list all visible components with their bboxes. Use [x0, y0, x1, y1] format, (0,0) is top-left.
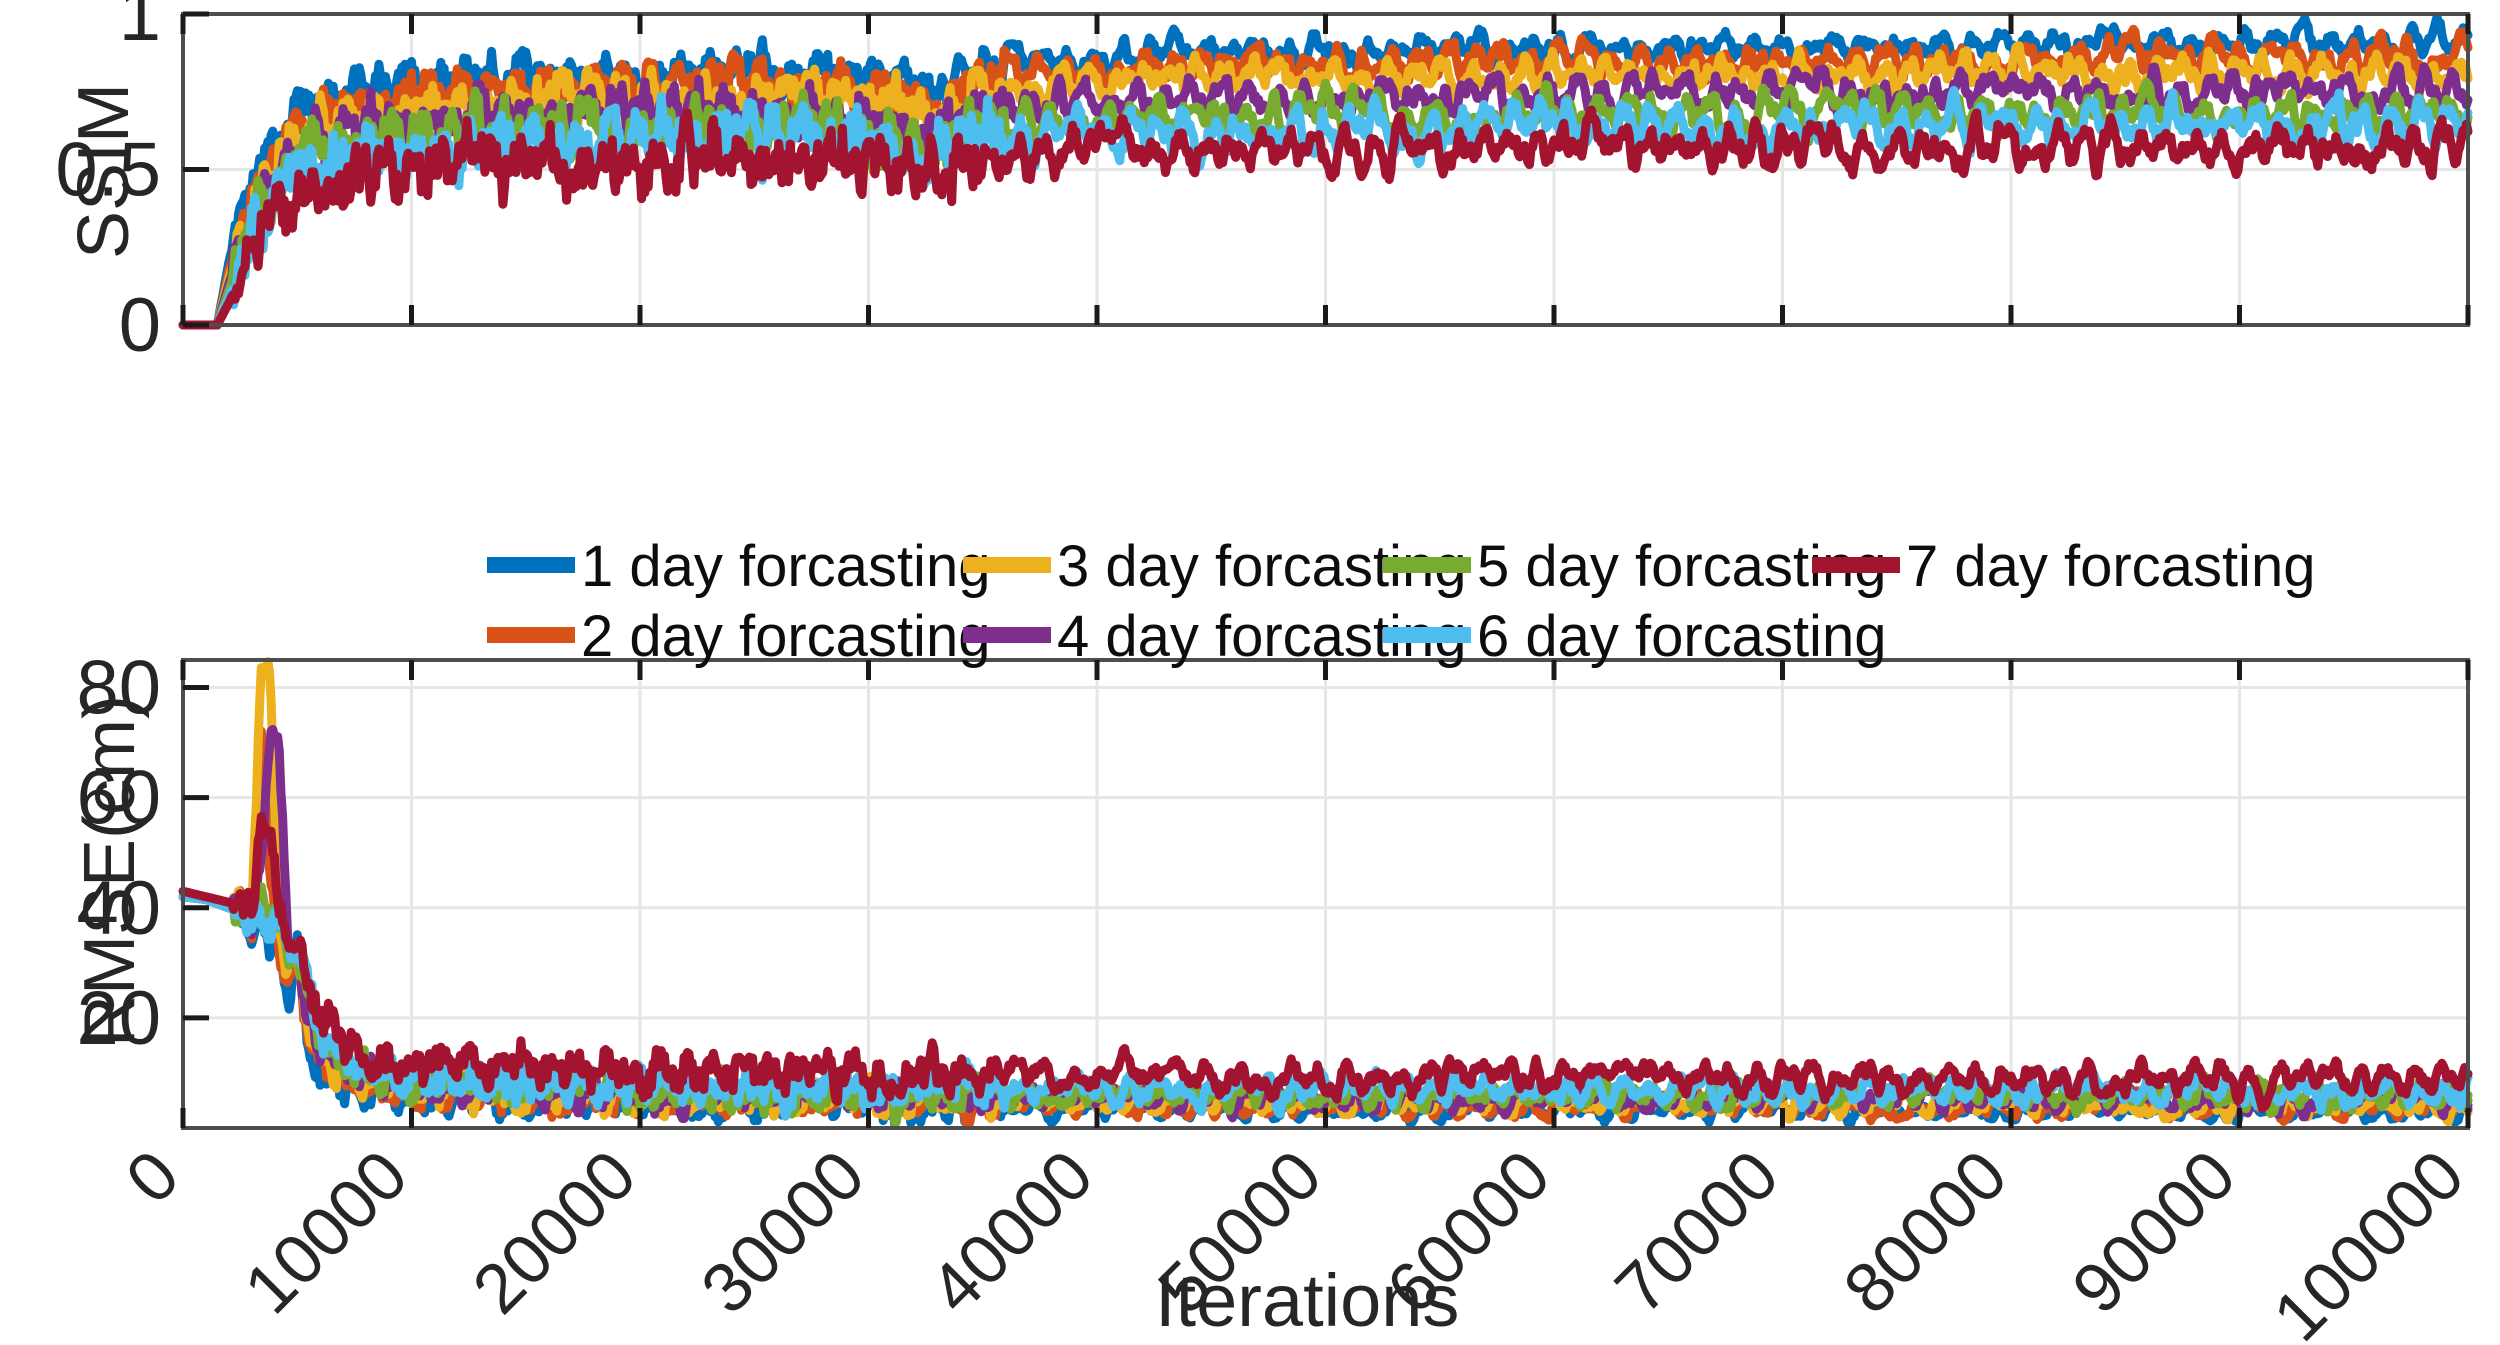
y-tick-label: 0 [119, 283, 161, 368]
ssim-y-tick-labels: 00.51 [55, 0, 161, 368]
legend-label: 1 day forcasting [581, 534, 990, 599]
y-tick-label: 1 [119, 0, 161, 57]
plot-canvas: 00.51 20406080 0100002000030000400005000… [0, 0, 2500, 1345]
x-tick-label: 90000 [2057, 1135, 2250, 1328]
y-tick-label: 40 [76, 866, 161, 951]
y-tick-label: 60 [76, 756, 161, 841]
legend-label: 7 day forcasting [1906, 534, 2315, 599]
x-tick-label: 100000 [2258, 1135, 2478, 1345]
x-tick-label: 10000 [229, 1135, 422, 1328]
figure-root: SSIM RMSE(cm) Iterations 00.51 20406080 … [0, 0, 2500, 1345]
y-tick-label: 20 [76, 976, 161, 1061]
x-tick-label: 30000 [686, 1135, 879, 1328]
x-tick-label: 80000 [1829, 1135, 2022, 1328]
x-tick-label: 60000 [1372, 1135, 1565, 1328]
x-tick-label: 70000 [1600, 1135, 1793, 1328]
x-tick-labels: 0100002000030000400005000060000700008000… [111, 1135, 2479, 1345]
legend-label: 2 day forcasting [581, 604, 990, 669]
x-tick-label: 20000 [458, 1135, 651, 1328]
legend-label: 6 day forcasting [1477, 604, 1886, 669]
x-tick-label: 0 [111, 1135, 194, 1218]
y-tick-label: 0.5 [55, 128, 161, 213]
x-tick-label: 40000 [915, 1135, 1108, 1328]
x-tick-label: 50000 [1143, 1135, 1336, 1328]
rmse-y-tick-labels: 20406080 [76, 646, 161, 1061]
y-tick-label: 80 [76, 646, 161, 731]
chart-legend: 1 day forcasting2 day forcasting3 day fo… [487, 534, 2315, 669]
